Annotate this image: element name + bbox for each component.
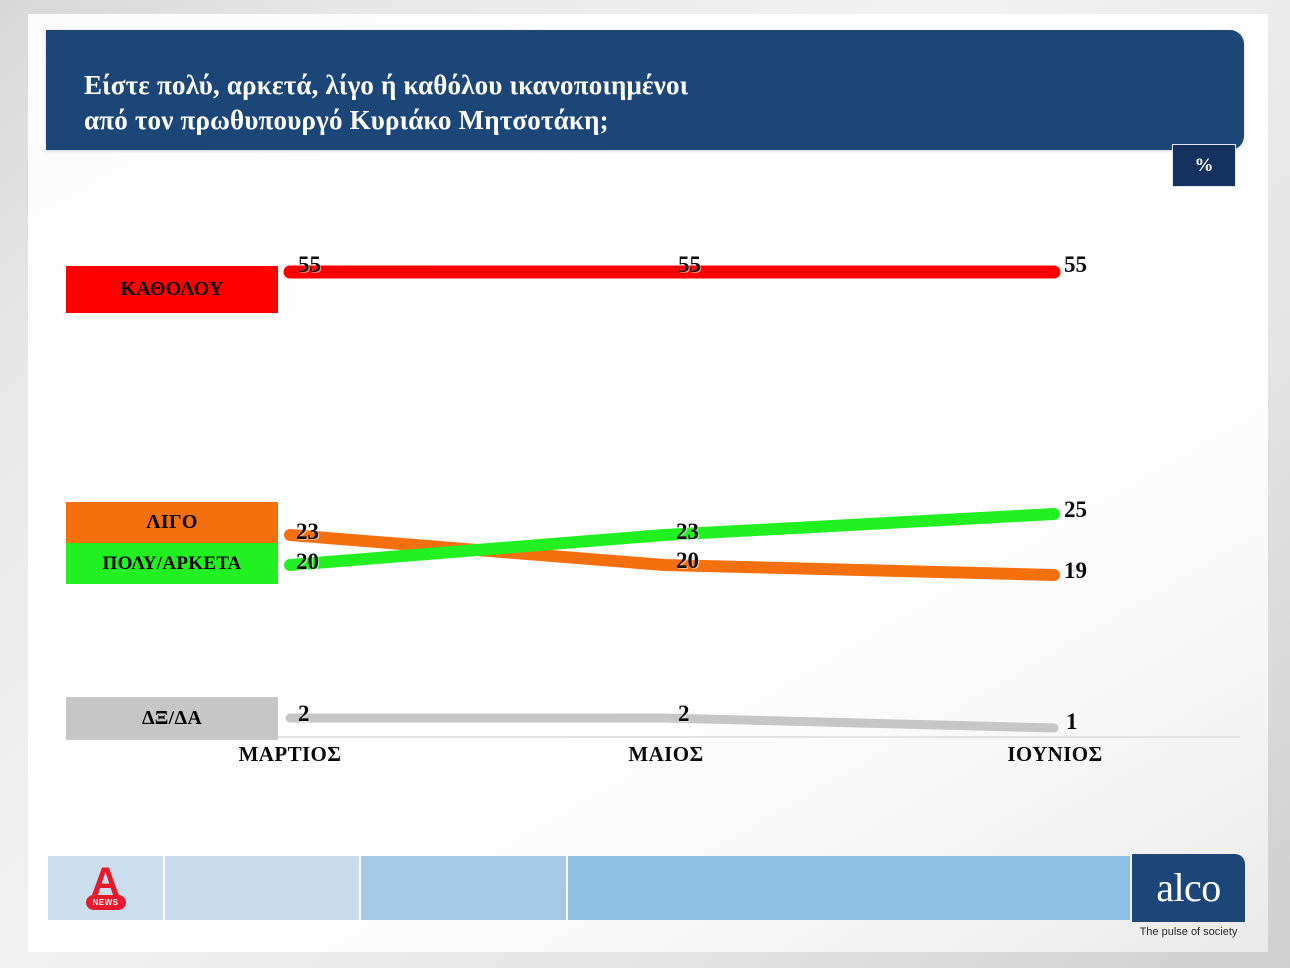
alco-wordmark: alco: [1156, 868, 1221, 908]
legend-poly-arketa: ΠΟΛΥ/ΑΡΚΕΤΑ: [66, 543, 278, 584]
value-label-ligo-iounios: 19: [1064, 558, 1087, 584]
value-label-poly-martios: 20: [296, 549, 319, 575]
chart-plot-area: [28, 14, 1268, 952]
value-label-dxda-iounios: 1: [1066, 709, 1078, 735]
x-axis-label-iounios: ΙΟΥΝΙΟΣ: [960, 742, 1150, 767]
alco-tagline: The pulse of society: [1132, 926, 1245, 938]
footer-block-1: [165, 856, 359, 920]
x-axis-label-maios: ΜΑΙΟΣ: [576, 742, 756, 767]
series-line-dxda: [290, 718, 1054, 728]
value-label-poly-iounios: 25: [1064, 497, 1087, 523]
footer-block-3: [568, 856, 1130, 920]
legend-dxda-label: ΔΞ/ΔΑ: [142, 707, 202, 730]
chart-svg: [28, 14, 1268, 952]
value-label-ligo-martios: 23: [296, 519, 319, 545]
legend-ligo-label: ΛΙΓΟ: [146, 511, 198, 534]
legend-poly-arketa-label: ΠΟΛΥ/ΑΡΚΕΤΑ: [103, 553, 242, 575]
alpha-news-badge: NEWS: [86, 895, 126, 910]
footer-news-logo-block: A NEWS: [48, 856, 163, 920]
value-label-kathlou-iounios: 55: [1064, 252, 1087, 278]
legend-ligo: ΛΙΓΟ: [66, 502, 278, 543]
legend-kathlou-label: ΚΑΘΟΛΟΥ: [120, 278, 223, 301]
value-label-ligo-maios: 20: [676, 548, 699, 574]
value-label-kathlou-martios: 55: [298, 252, 321, 278]
x-axis-label-martios: ΜΑΡΤΙΟΣ: [200, 742, 380, 767]
legend-kathlou: ΚΑΘΟΛΟΥ: [66, 266, 278, 313]
legend-dxda: ΔΞ/ΔΑ: [66, 697, 278, 740]
value-label-dxda-martios: 2: [298, 701, 310, 727]
value-label-poly-maios: 23: [676, 519, 699, 545]
footer-bar: A NEWS alco The pulse of society: [28, 846, 1268, 952]
value-label-dxda-maios: 2: [678, 701, 690, 727]
alco-logo-block: alco: [1132, 854, 1245, 922]
alpha-news-logo-icon: A NEWS: [77, 864, 135, 912]
slide-canvas: Είστε πολύ, αρκετά, λίγο ή καθόλου ικανο…: [28, 14, 1268, 952]
footer-block-2: [361, 856, 566, 920]
value-label-kathlou-maios: 55: [678, 252, 701, 278]
